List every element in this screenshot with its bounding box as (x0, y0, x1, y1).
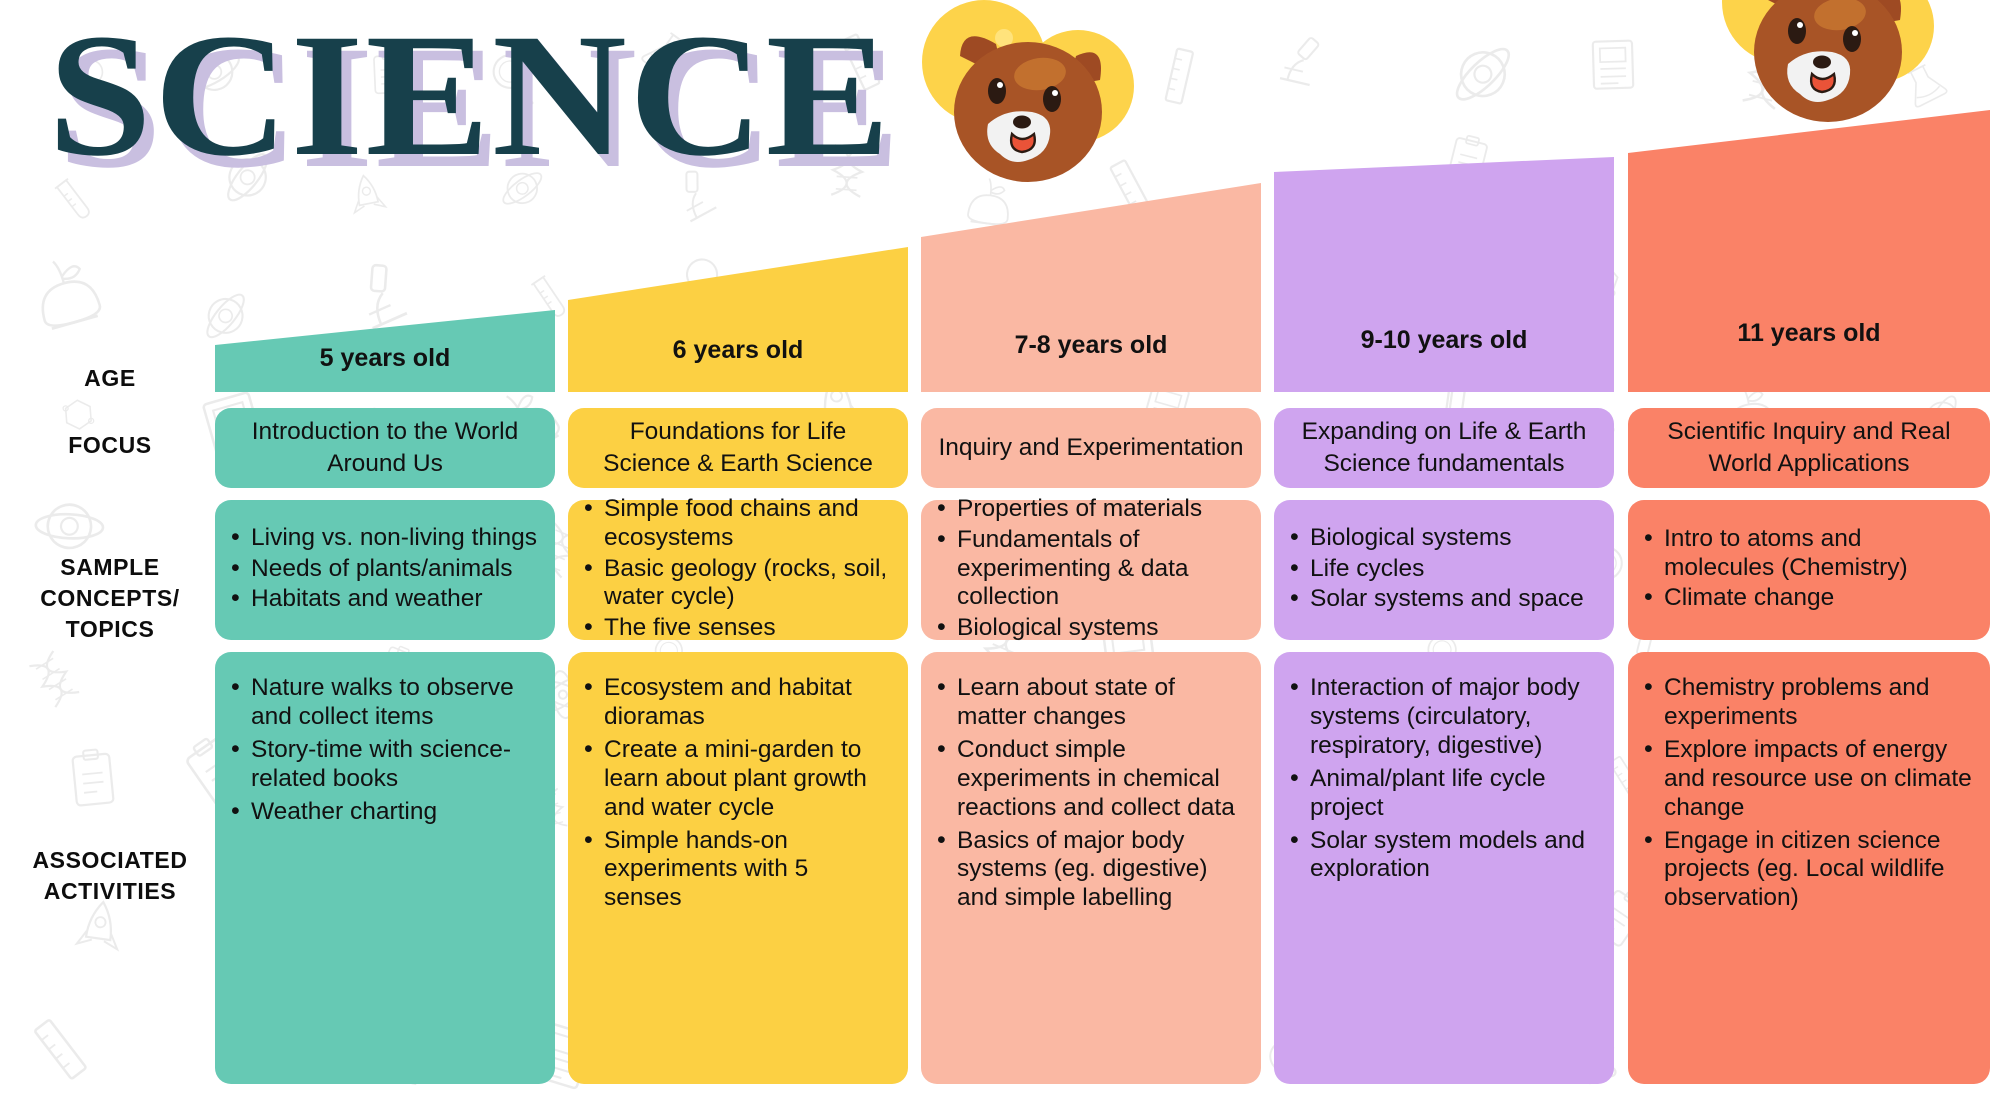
focus-cell-0: Introduction to the World Around Us (215, 408, 555, 488)
list-item: Basics of major body systems (eg. digest… (931, 827, 1245, 914)
sample-concepts-cell-1: Simple food chains and ecosystemsBasic g… (568, 500, 908, 640)
age-header-label-0: 5 years old (215, 343, 555, 373)
list-item: Chemistry problems and experiments (1638, 674, 1974, 732)
row-label-assoc-line2: ACTIVITIES (10, 876, 210, 907)
list-item: The five senses (578, 614, 892, 643)
list-item: Properties of materials (931, 495, 1245, 524)
list-item: Living vs. non-living things (225, 524, 537, 553)
list-item: Simple hands-on experiments with 5 sense… (578, 827, 892, 914)
associated-activities-cell-4: Chemistry problems and experimentsExplor… (1628, 652, 1990, 1084)
bear-mascot-icon (900, 0, 1150, 224)
row-label-age: AGE (10, 363, 210, 394)
list-item: Biological systems (1284, 524, 1584, 553)
list-item: Weather charting (225, 798, 539, 827)
list-item: Learn about state of matter changes (931, 674, 1245, 732)
list-item: Solar system models and exploration (1284, 827, 1598, 885)
row-label-sample-line2: CONCEPTS/ (10, 583, 210, 614)
associated-activities-cell-0: Nature walks to observe and collect item… (215, 652, 555, 1084)
focus-cell-3: Expanding on Life & Earth Science fundam… (1274, 408, 1614, 488)
sample-concepts-cell-2: Properties of materialsFundamentals of e… (921, 500, 1261, 640)
row-label-sample-line3: TOPICS (10, 614, 210, 645)
row-label-sample-concepts: SAMPLE CONCEPTS/ TOPICS (10, 552, 210, 644)
list-item: Animal/plant life cycle project (1284, 765, 1598, 823)
list-item: Create a mini-garden to learn about plan… (578, 736, 892, 823)
list-item: Climate change (1638, 584, 1974, 613)
associated-activities-cell-1: Ecosystem and habitat dioramasCreate a m… (568, 652, 908, 1084)
age-header-label-1: 6 years old (568, 335, 908, 365)
list-item: Needs of plants/animals (225, 555, 537, 584)
sample-concepts-cell-3: Biological systemsLife cyclesSolar syste… (1274, 500, 1614, 640)
row-label-assoc-line1: ASSOCIATED (10, 845, 210, 876)
bear-mascot-icon (1700, 0, 1950, 164)
age-header-label-4: 11 years old (1628, 318, 1990, 348)
list-item: Fundamentals of experimenting & data col… (931, 526, 1245, 613)
associated-activities-cell-2: Learn about state of matter changesCondu… (921, 652, 1261, 1084)
list-item: Simple food chains and ecosystems (578, 495, 892, 553)
list-item: Basic geology (rocks, soil, water cycle) (578, 555, 892, 613)
sample-concepts-cell-0: Living vs. non-living thingsNeeds of pla… (215, 500, 555, 640)
row-label-sample-line1: SAMPLE (10, 552, 210, 583)
age-header-label-3: 9-10 years old (1274, 325, 1614, 355)
list-item: Story-time with science-related books (225, 736, 539, 794)
associated-activities-cell-3: Interaction of major body systems (circu… (1274, 652, 1614, 1084)
list-item: Explore impacts of energy and resource u… (1638, 736, 1974, 823)
list-item: Ecosystem and habitat dioramas (578, 674, 892, 732)
list-item: Interaction of major body systems (circu… (1284, 674, 1598, 761)
list-item: Intro to atoms and molecules (Chemistry) (1638, 525, 1974, 583)
row-label-focus: FOCUS (10, 430, 210, 461)
list-item: Solar systems and space (1284, 585, 1584, 614)
focus-cell-2: Inquiry and Experimentation (921, 408, 1261, 488)
sample-concepts-cell-4: Intro to atoms and molecules (Chemistry)… (1628, 500, 1990, 640)
list-item: Biological systems (931, 614, 1245, 643)
age-header-label-2: 7-8 years old (921, 330, 1261, 360)
list-item: Life cycles (1284, 555, 1584, 584)
focus-cell-1: Foundations for Life Science & Earth Sci… (568, 408, 908, 488)
list-item: Conduct simple experiments in chemical r… (931, 736, 1245, 823)
row-label-associated-activities: ASSOCIATED ACTIVITIES (10, 845, 210, 907)
list-item: Engage in citizen science projects (eg. … (1638, 827, 1974, 914)
list-item: Nature walks to observe and collect item… (225, 674, 539, 732)
list-item: Habitats and weather (225, 585, 537, 614)
focus-cell-4: Scientific Inquiry and Real World Applic… (1628, 408, 1990, 488)
